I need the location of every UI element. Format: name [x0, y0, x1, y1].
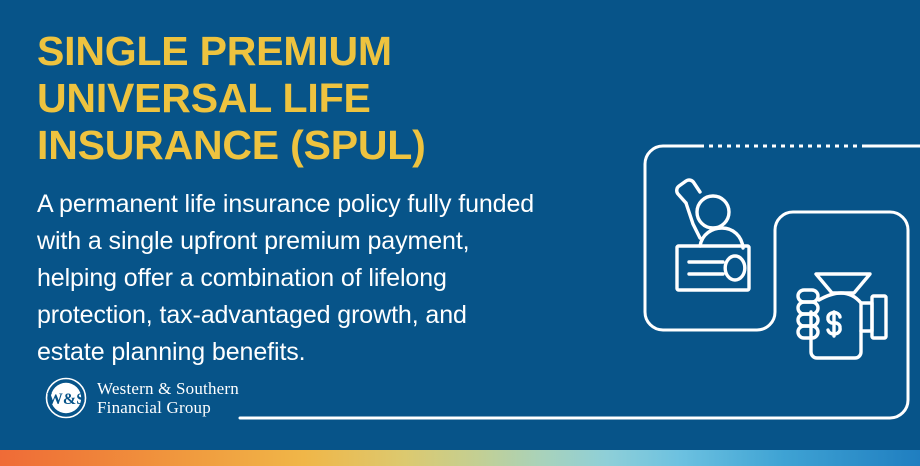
hand-holding-money-icon [798, 274, 886, 358]
description-text: A permanent life insurance policy fully … [37, 169, 617, 371]
brand-gradient-bar [0, 450, 920, 466]
page-title: Single Premium Universal Life Insurance … [37, 28, 617, 169]
svg-text:W&S: W&S [47, 391, 85, 408]
text-content: Single Premium Universal Life Insurance … [37, 28, 617, 371]
brand-logo[interactable]: W&S Western & Southern Financial Group [44, 376, 239, 420]
person-raising-hand-behind-check-icon [677, 180, 749, 290]
marketing-banner: Single Premium Universal Life Insurance … [0, 0, 920, 466]
brand-name: Western & Southern Financial Group [97, 379, 239, 418]
outline-box-left [645, 146, 775, 330]
ws-monogram-icon: W&S [44, 376, 88, 420]
